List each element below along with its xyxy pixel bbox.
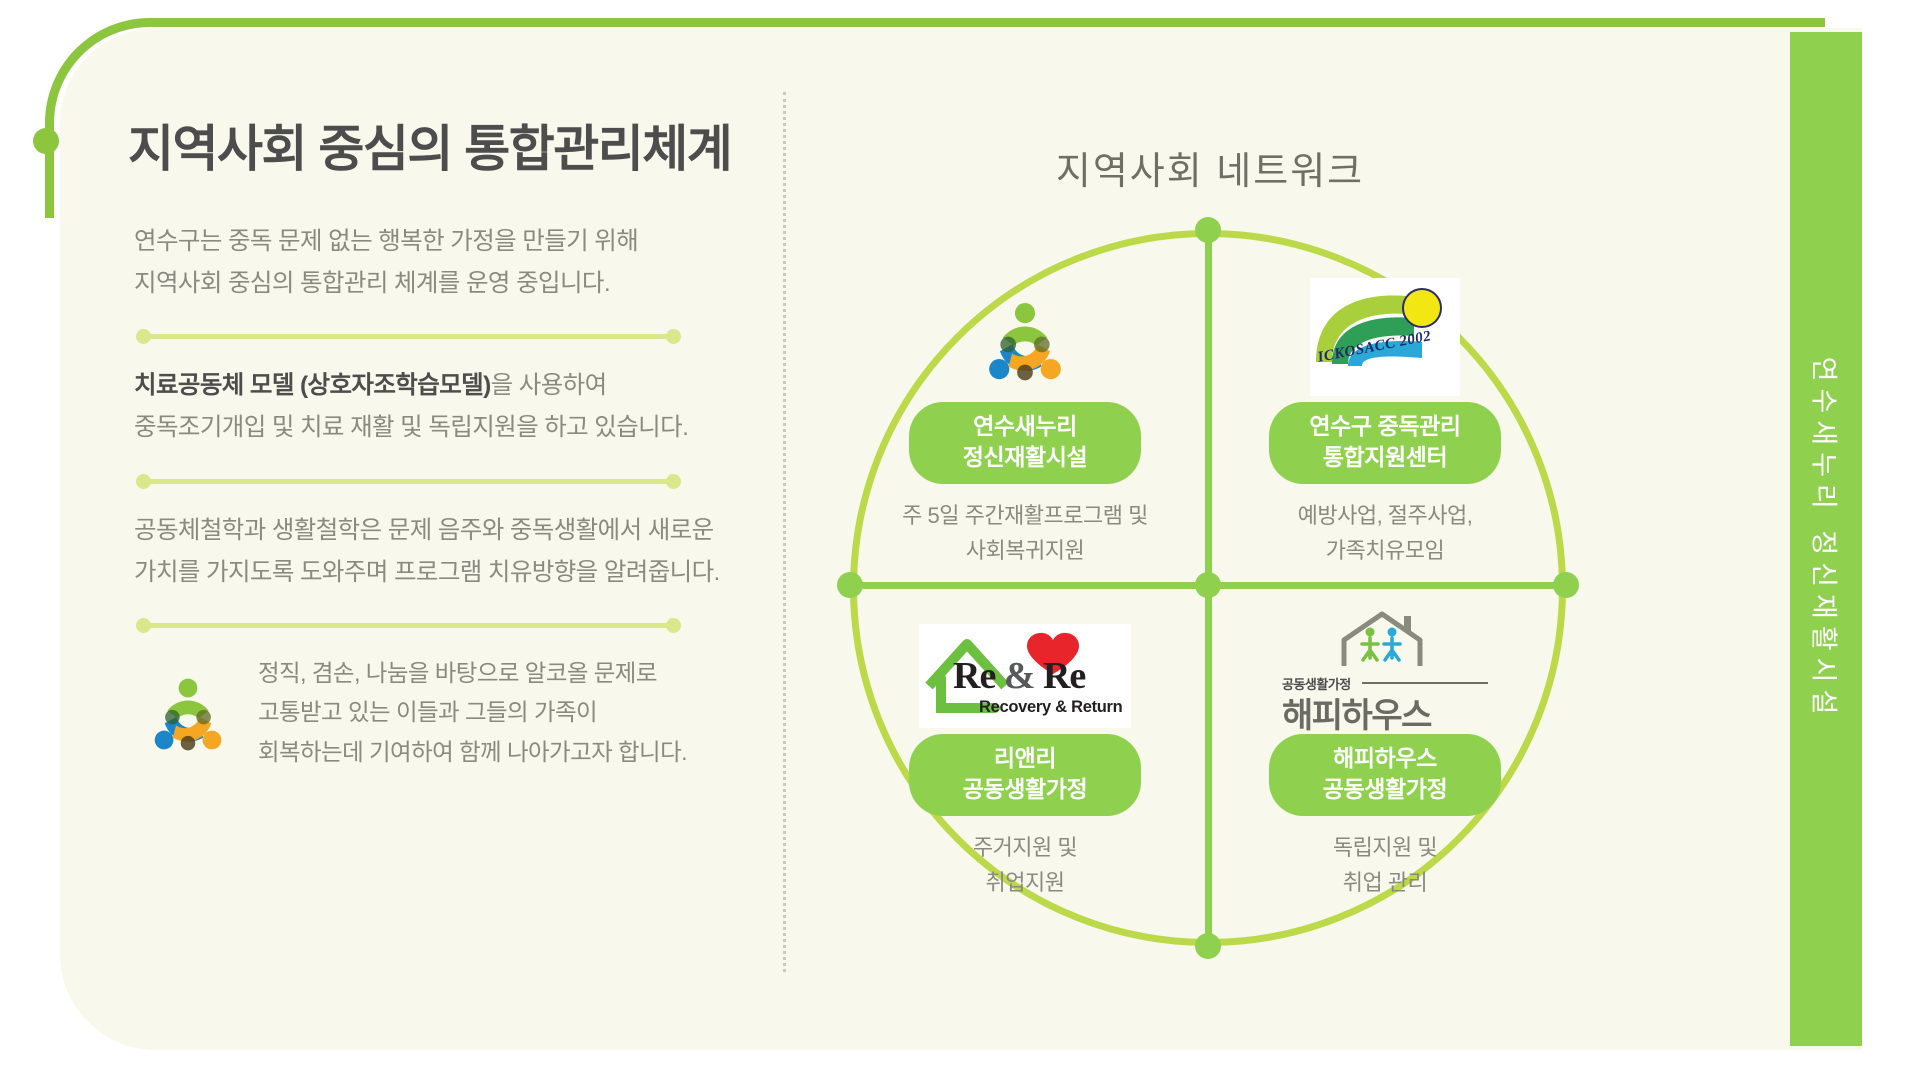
rule-knob-right (666, 329, 681, 344)
divider-rule-1 (136, 333, 681, 339)
network-title: 지역사회 네트워크 (800, 140, 1620, 195)
divider-rule-2 (136, 478, 681, 484)
three-people-circle-logo (136, 661, 240, 765)
model-line-2: 중독조기개입 및 치료 재활 및 독립지원을 하고 있습니다. (134, 407, 748, 449)
mission-statement-row: 정직, 겸손, 나눔을 바탕으로 알코올 문제로 고통받고 있는 이들과 그들의… (136, 654, 748, 772)
rule-knob-right (666, 618, 681, 633)
badge-line-1: 연수새누리 (935, 411, 1115, 442)
badge-line-2: 정신재활시설 (935, 442, 1115, 473)
status-badge: 리앤리 공동생활가정 (909, 734, 1141, 816)
model-line-1: 치료공동체 모델 (상호자조학습모델)을 사용하여 (134, 365, 748, 407)
panel-accent-dot (33, 128, 59, 154)
rule-knob-right (666, 474, 681, 489)
quadrant-description: 예방사업, 절주사업, 가족치유모임 (1220, 498, 1550, 569)
right-column: 지역사회 네트워크 (800, 120, 1760, 1020)
sidebar-vertical-label: 연수새누리 정신재활시설 (1807, 357, 1846, 722)
badge-line-1: 연수구 중독관리 (1295, 411, 1475, 442)
mission-line-3: 회복하는데 기여하여 함께 나아가고자 합니다. (258, 733, 687, 772)
quadrant-happy-house[interactable]: 공동생활가정 해피하우스 해피하우스 공동생활가정 독립지원 및 취업 관리 (1220, 610, 1550, 901)
node-dot-top (1195, 217, 1221, 243)
model-bold-text: 치료공동체 모델 (상호자조학습모델) (134, 372, 491, 399)
page-title: 지역사회 중심의 통합관리체계 (128, 122, 748, 177)
node-dot-left (837, 572, 863, 598)
philosophy-line-2: 가치를 가지도록 도와주며 프로그램 치유방향을 알려줍니다. (134, 552, 748, 594)
re-and-re-wordmark: Re & Re (953, 654, 1085, 698)
column-divider (783, 92, 786, 972)
ickosacc-logo: ICKOSACC 2002 (1220, 278, 1550, 396)
happy-house-wordmark: 해피하우스 (1282, 688, 1431, 737)
three-people-circle-logo (860, 278, 1190, 396)
philosophy-paragraph: 공동체철학과 생활철학은 문제 음주와 중독생활에서 새로운 가치를 가지도록 … (134, 510, 748, 594)
philosophy-line-1: 공동체철학과 생활철학은 문제 음주와 중독생활에서 새로운 (134, 510, 748, 552)
network-diagram: 연수새누리 정신재활시설 주 5일 주간재활프로그램 및 사회복귀지원 (820, 220, 1600, 1010)
rule-bar (142, 334, 681, 339)
happy-house-rule (1362, 682, 1488, 684)
badge-line-2: 통합지원센터 (1295, 442, 1475, 473)
node-dot-center (1195, 572, 1221, 598)
status-badge: 해피하우스 공동생활가정 (1269, 734, 1501, 816)
mission-statement-text: 정직, 겸손, 나눔을 바탕으로 알코올 문제로 고통받고 있는 이들과 그들의… (258, 654, 687, 772)
desc-line-2: 취업지원 (860, 865, 1190, 901)
quadrant-addiction-center[interactable]: ICKOSACC 2002 연수구 중독관리 통합지원센터 예방사업, 절주사업… (1220, 278, 1550, 569)
badge-line-1: 해피하우스 (1295, 743, 1475, 774)
left-column: 지역사회 중심의 통합관리체계 연수구는 중독 문제 없는 행복한 가정을 만들… (128, 122, 748, 772)
quadrant-description: 주거지원 및 취업지원 (860, 830, 1190, 901)
status-badge: 연수구 중독관리 통합지원센터 (1269, 402, 1501, 484)
desc-line-1: 주거지원 및 (860, 830, 1190, 866)
desc-line-1: 독립지원 및 (1220, 830, 1550, 866)
node-dot-right (1553, 572, 1579, 598)
quadrant-re-and-re[interactable]: Re & Re Recovery & Return 리앤리 공동생활가정 주거지… (860, 610, 1190, 901)
intro-paragraph: 연수구는 중독 문제 없는 행복한 가정을 만들기 위해 지역사회 중심의 통합… (134, 221, 748, 305)
desc-line-2: 사회복귀지원 (860, 533, 1190, 569)
badge-line-1: 리앤리 (935, 743, 1115, 774)
desc-line-2: 취업 관리 (1220, 865, 1550, 901)
rule-bar (142, 623, 681, 628)
right-sidebar: 연수새누리 정신재활시설 (1790, 32, 1862, 1046)
desc-line-2: 가족치유모임 (1220, 533, 1550, 569)
happy-house-logo-box: 공동생활가정 해피하우스 (1276, 614, 1494, 728)
slide-root: 연수새누리 정신재활시설 지역사회 중심의 통합관리체계 연수구는 중독 문제 … (0, 0, 1920, 1080)
re-and-re-logo-box: Re & Re Recovery & Return (919, 624, 1131, 728)
quadrant-description: 독립지원 및 취업 관리 (1220, 830, 1550, 901)
badge-line-2: 공동생활가정 (1295, 774, 1475, 805)
divider-rule-3 (136, 622, 681, 628)
node-dot-bottom (1195, 933, 1221, 959)
model-paragraph: 치료공동체 모델 (상호자조학습모델)을 사용하여 중독조기개입 및 치료 재활… (134, 365, 748, 449)
desc-line-1: 예방사업, 절주사업, (1220, 498, 1550, 534)
re-and-re-logo: Re & Re Recovery & Return (860, 610, 1190, 728)
model-rest-text: 을 사용하여 (491, 372, 607, 399)
ickosacc-logo-box: ICKOSACC 2002 (1310, 278, 1460, 396)
quadrant-yeonsu-saenuri[interactable]: 연수새누리 정신재활시설 주 5일 주간재활프로그램 및 사회복귀지원 (860, 278, 1190, 569)
intro-line-1: 연수구는 중독 문제 없는 행복한 가정을 만들기 위해 (134, 221, 748, 263)
mission-line-1: 정직, 겸손, 나눔을 바탕으로 알코올 문제로 (258, 654, 687, 693)
mission-line-2: 고통받고 있는 이들과 그들의 가족이 (258, 693, 687, 732)
rule-knob-left (136, 474, 151, 489)
re-and-re-tagline: Recovery & Return (979, 698, 1122, 717)
desc-line-1: 주 5일 주간재활프로그램 및 (860, 498, 1190, 534)
status-badge: 연수새누리 정신재활시설 (909, 402, 1141, 484)
rule-knob-left (136, 618, 151, 633)
rule-knob-left (136, 329, 151, 344)
happy-house-logo: 공동생활가정 해피하우스 (1220, 610, 1550, 728)
quadrant-description: 주 5일 주간재활프로그램 및 사회복귀지원 (860, 498, 1190, 569)
intro-line-2: 지역사회 중심의 통합관리 체계를 운영 중입니다. (134, 263, 748, 305)
badge-line-2: 공동생활가정 (935, 774, 1115, 805)
rule-bar (142, 479, 681, 484)
